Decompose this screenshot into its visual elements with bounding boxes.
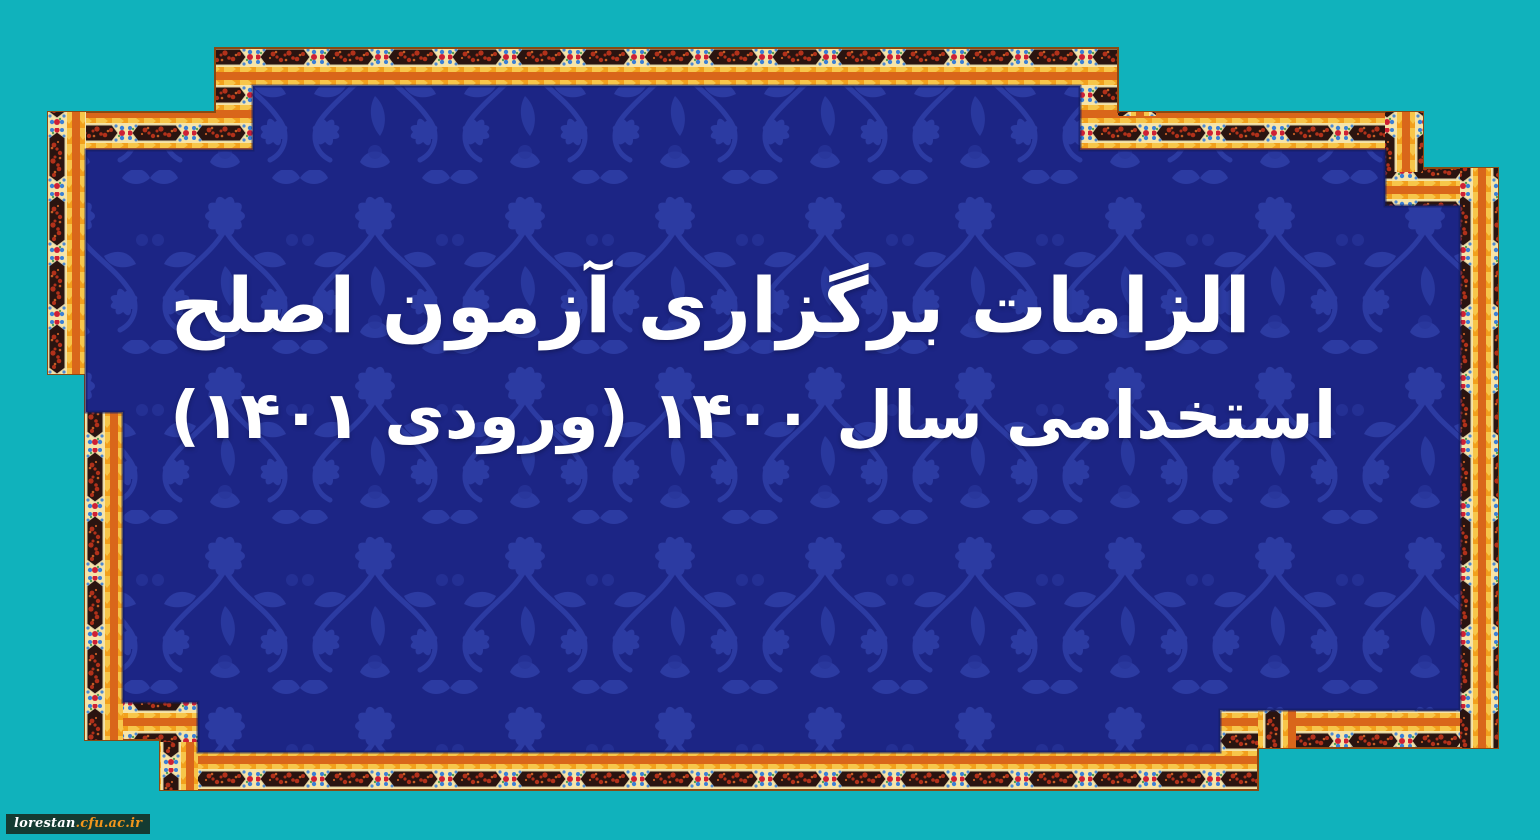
blue-panel <box>86 86 1460 752</box>
watermark-domain-suffix: .cfu.ac.ir <box>76 816 143 831</box>
watermark-site-name: lorestan <box>14 816 76 831</box>
ornamental-frame <box>0 0 1540 840</box>
site-watermark: lorestan.cfu.ac.ir <box>6 814 150 834</box>
banner-canvas: الزامات برگزاری آزمون اصلح استخدامی سال … <box>0 0 1540 840</box>
